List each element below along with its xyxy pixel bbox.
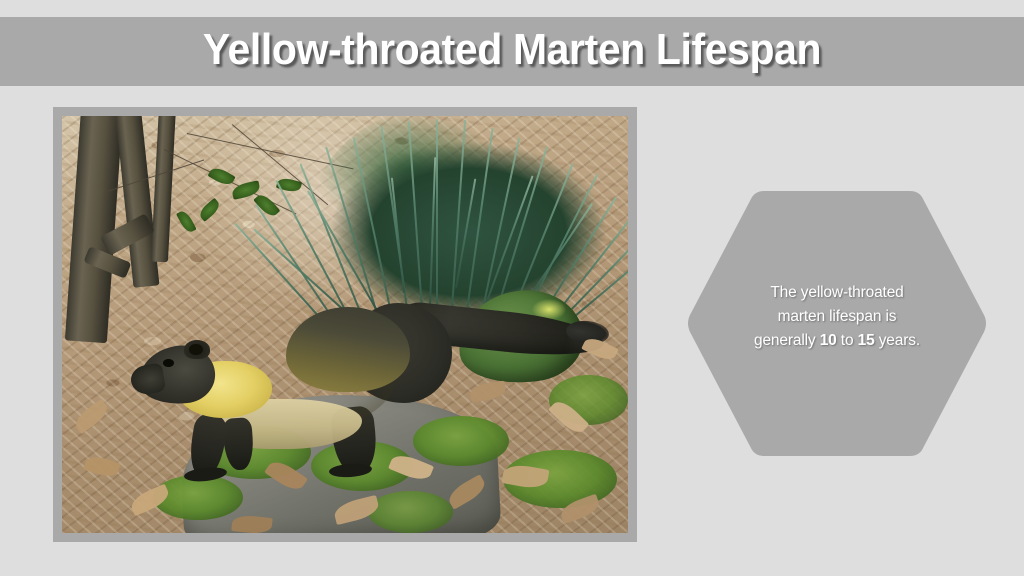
marten-ear-inner [189,344,203,356]
marten-paw [328,463,372,479]
fallen-leaf [231,514,272,533]
marten-eye [163,359,173,367]
marten-subject [124,299,599,491]
callout-line3-suffix: years. [875,332,920,349]
slide-root: Yellow-throated Marten Lifespan [0,0,1024,576]
lifespan-min-value: 10 [820,332,837,349]
lifespan-callout-hexagon: The yellow-throated marten lifespan is g… [686,191,988,456]
callout-line3-mid: to [837,332,858,349]
marten-paw [183,466,227,484]
callout-line-2: marten lifespan is [716,305,958,329]
lifespan-max-value: 15 [858,332,875,349]
yellow-throated-marten-photo [62,116,628,533]
moss-patch [368,491,453,533]
callout-line-1: The yellow-throated [716,281,958,305]
photo-frame [53,107,637,542]
title-banner: Yellow-throated Marten Lifespan [0,17,1024,86]
page-title: Yellow-throated Marten Lifespan [36,17,988,86]
callout-line3-prefix: generally [754,332,820,349]
marten-foreleg [222,417,254,471]
marten-shoulder [286,307,410,391]
callout-text: The yellow-throated marten lifespan is g… [716,281,958,353]
marten-snout [129,362,167,396]
callout-line-3: generally 10 to 15 years. [716,329,958,353]
